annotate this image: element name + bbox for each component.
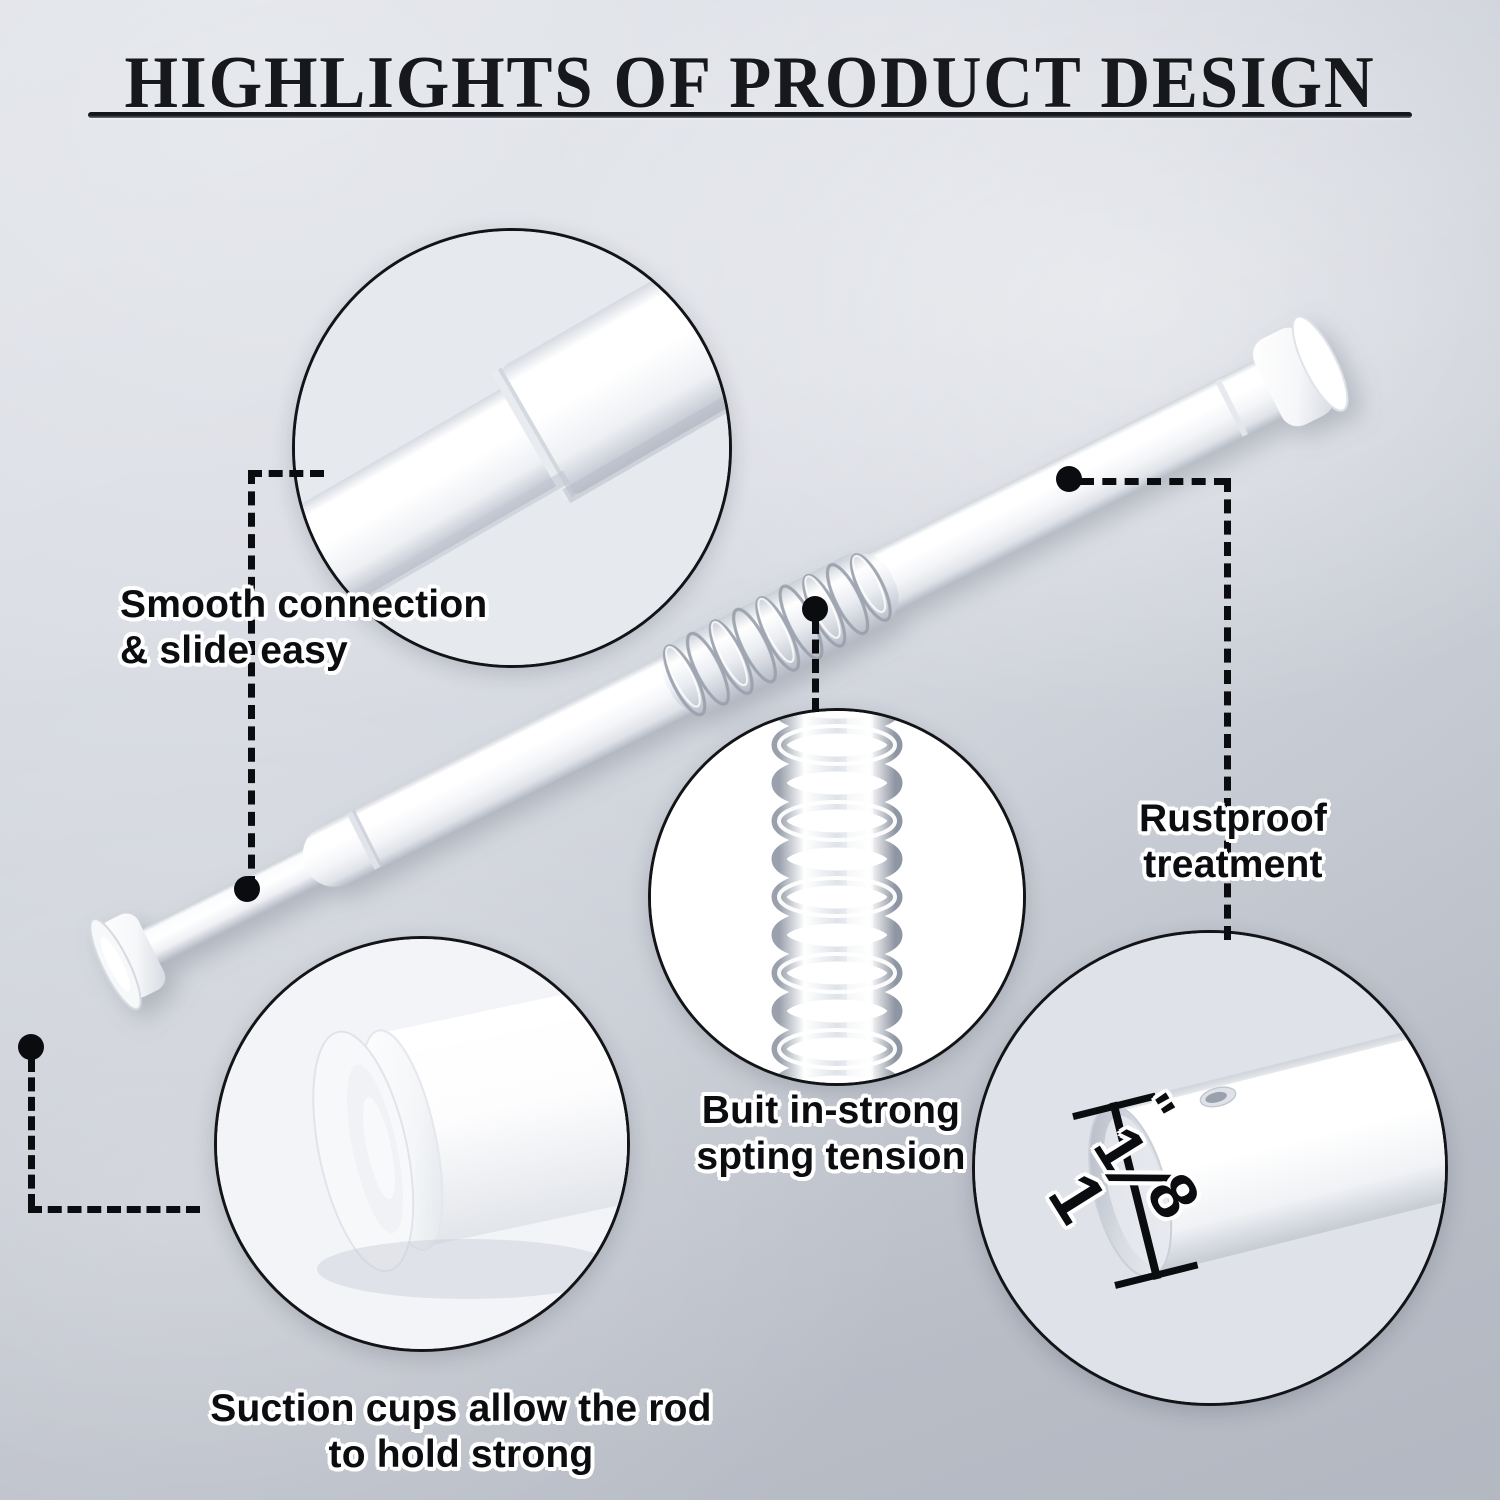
leader-line-suction-horizontal [28, 1206, 200, 1213]
label-rustproof-treatment: Rustproof treatment [1118, 796, 1348, 888]
leader-line-suction-vertical [28, 1058, 35, 1208]
leader-dot-smooth [234, 876, 260, 902]
infographic-canvas: HIGHLIGHTS OF PRODUCT DESIGN [0, 0, 1500, 1500]
label-suction-line1: Suction cups allow the rod [176, 1386, 746, 1432]
header: HIGHLIGHTS OF PRODUCT DESIGN [0, 46, 1500, 120]
suction-cup-detail [217, 939, 627, 1349]
spring-detail [651, 711, 1023, 1083]
leader-line-spring-vertical [812, 620, 819, 712]
tube-diameter-detail [975, 933, 1445, 1403]
label-smooth-connection-line1: Smooth connection [120, 582, 487, 628]
label-rustproof-line1: Rustproof [1118, 796, 1348, 842]
callout-circle-tube-diameter: 1 1 ⁄ 8 " [972, 930, 1448, 1406]
label-suction-line2: to hold strong [176, 1432, 746, 1478]
callout-circle-spring [648, 708, 1026, 1086]
leader-dot-rustproof [1056, 466, 1082, 492]
label-spring-line2: spting tension [676, 1134, 986, 1180]
label-spring-line1: Buit in-strong [676, 1088, 986, 1134]
leader-line-rustproof-horizontal [1080, 478, 1228, 485]
label-suction-cups: Suction cups allow the rod to hold stron… [176, 1386, 746, 1478]
leader-line-smooth-vertical [248, 470, 255, 890]
callout-circle-suction-cup [214, 936, 630, 1352]
leader-dot-spring [802, 596, 828, 622]
leader-dot-suction [18, 1034, 44, 1060]
label-smooth-connection: Smooth connection & slide easy [120, 582, 487, 674]
leader-line-smooth-horizontal [248, 470, 324, 477]
label-spring-tension: Buit in-strong spting tension [676, 1088, 986, 1180]
label-smooth-connection-line2: & slide easy [120, 628, 487, 674]
label-rustproof-line2: treatment [1118, 842, 1348, 888]
page-title: HIGHLIGHTS OF PRODUCT DESIGN [53, 46, 1448, 120]
